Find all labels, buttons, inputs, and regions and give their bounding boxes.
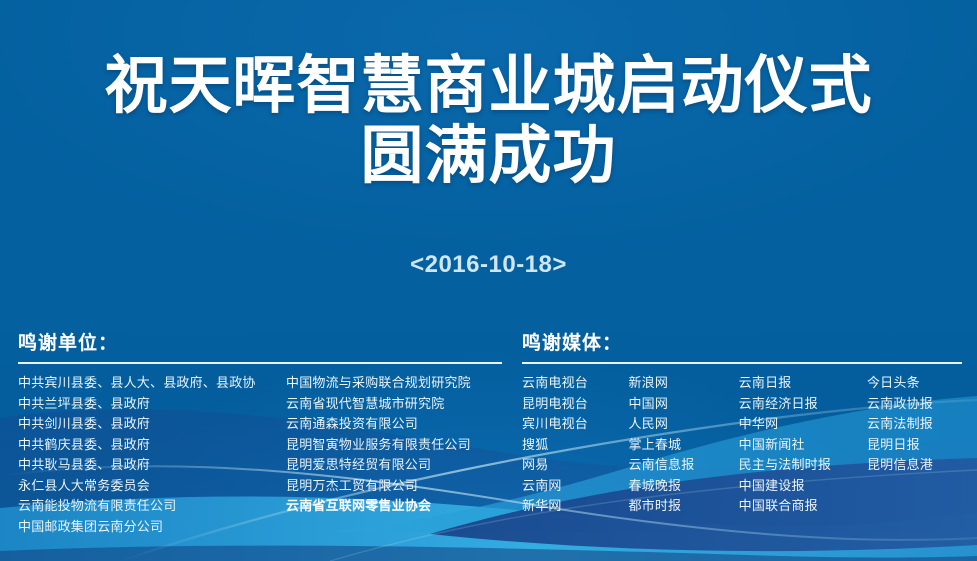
credit-entry: 昆明万杰工贸有限公司 — [286, 476, 502, 497]
media-column-1: 云南电视台昆明电视台宾川电视台搜狐网易云南网新华网 — [522, 373, 628, 517]
credit-entry: 云南省现代智慧城市研究院 — [286, 394, 502, 415]
credit-entry: 春城晚报 — [628, 476, 738, 497]
media-column-3: 云南日报云南经济日报中华网中国新闻社民主与法制时报中国建设报中国联合商报 — [739, 373, 867, 517]
credit-entry: 云南信息报 — [628, 455, 738, 476]
credit-entry: 中共耿马县委、县政府 — [18, 455, 286, 476]
credit-entry: 云南法制报 — [867, 414, 962, 435]
credit-entry: 云南电视台 — [522, 373, 628, 394]
credit-entry: 云南网 — [522, 476, 628, 497]
credit-entry: 昆明电视台 — [522, 394, 628, 415]
acknowledged-media-panel: 鸣谢媒体： 云南电视台昆明电视台宾川电视台搜狐网易云南网新华网 新浪网中国网人民… — [522, 334, 962, 517]
media-column-2: 新浪网中国网人民网掌上春城云南信息报春城晚报都市时报 — [628, 373, 738, 517]
credit-entry: 云南能投物流有限责任公司 — [18, 496, 286, 517]
credit-entry: 云南省互联网零售业协会 — [286, 496, 502, 517]
credit-entry: 昆明信息港 — [867, 455, 962, 476]
credit-entry: 云南经济日报 — [739, 394, 867, 415]
poster-canvas: 祝天晖智慧商业城启动仪式 圆满成功 <2016-10-18> 鸣谢单位： 中共宾… — [0, 0, 977, 561]
credit-entry: 新浪网 — [628, 373, 738, 394]
acknowledged-media-heading: 鸣谢媒体： — [522, 334, 962, 362]
event-date: <2016-10-18> — [0, 251, 977, 279]
media-column-4: 今日头条云南政协报云南法制报昆明日报昆明信息港 — [867, 373, 962, 517]
credit-entry: 中国物流与采购联合规划研究院 — [286, 373, 502, 394]
credit-entry: 永仁县人大常务委员会 — [18, 476, 286, 497]
credit-entry: 昆明智寅物业服务有限责任公司 — [286, 435, 502, 456]
acknowledged-units-heading: 鸣谢单位： — [18, 334, 502, 362]
credit-entry: 今日头条 — [867, 373, 962, 394]
poster-title: 祝天晖智慧商业城启动仪式 圆满成功 — [0, 54, 977, 189]
media-columns: 云南电视台昆明电视台宾川电视台搜狐网易云南网新华网 新浪网中国网人民网掌上春城云… — [522, 373, 962, 517]
units-columns: 中共宾川县委、县人大、县政府、县政协中共兰坪县委、县政府中共剑川县委、县政府中共… — [18, 373, 502, 537]
credits-section: 鸣谢单位： 中共宾川县委、县人大、县政府、县政协中共兰坪县委、县政府中共剑川县委… — [0, 334, 977, 561]
credit-entry: 中国新闻社 — [739, 435, 867, 456]
credit-entry: 宾川电视台 — [522, 414, 628, 435]
credit-entry: 中共剑川县委、县政府 — [18, 414, 286, 435]
credit-entry: 中共宾川县委、县人大、县政府、县政协 — [18, 373, 286, 394]
credit-entry: 中国网 — [628, 394, 738, 415]
credit-entry: 中共鹤庆县委、县政府 — [18, 435, 286, 456]
credit-entry: 昆明爱思特经贸有限公司 — [286, 455, 502, 476]
credit-entry: 搜狐 — [522, 435, 628, 456]
title-line-1: 祝天晖智慧商业城启动仪式 — [0, 54, 977, 118]
credit-entry: 云南日报 — [739, 373, 867, 394]
credit-entry: 中共兰坪县委、县政府 — [18, 394, 286, 415]
credit-entry: 民主与法制时报 — [739, 455, 867, 476]
acknowledged-units-panel: 鸣谢单位： 中共宾川县委、县人大、县政府、县政协中共兰坪县委、县政府中共剑川县委… — [18, 334, 502, 537]
credit-entry: 中国建设报 — [739, 476, 867, 497]
units-column-1: 中共宾川县委、县人大、县政府、县政协中共兰坪县委、县政府中共剑川县委、县政府中共… — [18, 373, 286, 537]
credit-entry: 都市时报 — [628, 496, 738, 517]
units-column-2: 中国物流与采购联合规划研究院云南省现代智慧城市研究院云南通森投资有限公司昆明智寅… — [286, 373, 502, 537]
credit-entry: 掌上春城 — [628, 435, 738, 456]
title-line-2: 圆满成功 — [0, 124, 977, 188]
credit-entry: 新华网 — [522, 496, 628, 517]
credit-entry: 网易 — [522, 455, 628, 476]
credit-entry: 云南通森投资有限公司 — [286, 414, 502, 435]
credit-entry: 中国邮政集团云南分公司 — [18, 517, 286, 538]
media-divider — [522, 362, 962, 364]
credit-entry: 昆明日报 — [867, 435, 962, 456]
credit-entry: 中国联合商报 — [739, 496, 867, 517]
units-divider — [18, 362, 502, 364]
credit-entry: 中华网 — [739, 414, 867, 435]
credit-entry: 云南政协报 — [867, 394, 962, 415]
credit-entry: 人民网 — [628, 414, 738, 435]
